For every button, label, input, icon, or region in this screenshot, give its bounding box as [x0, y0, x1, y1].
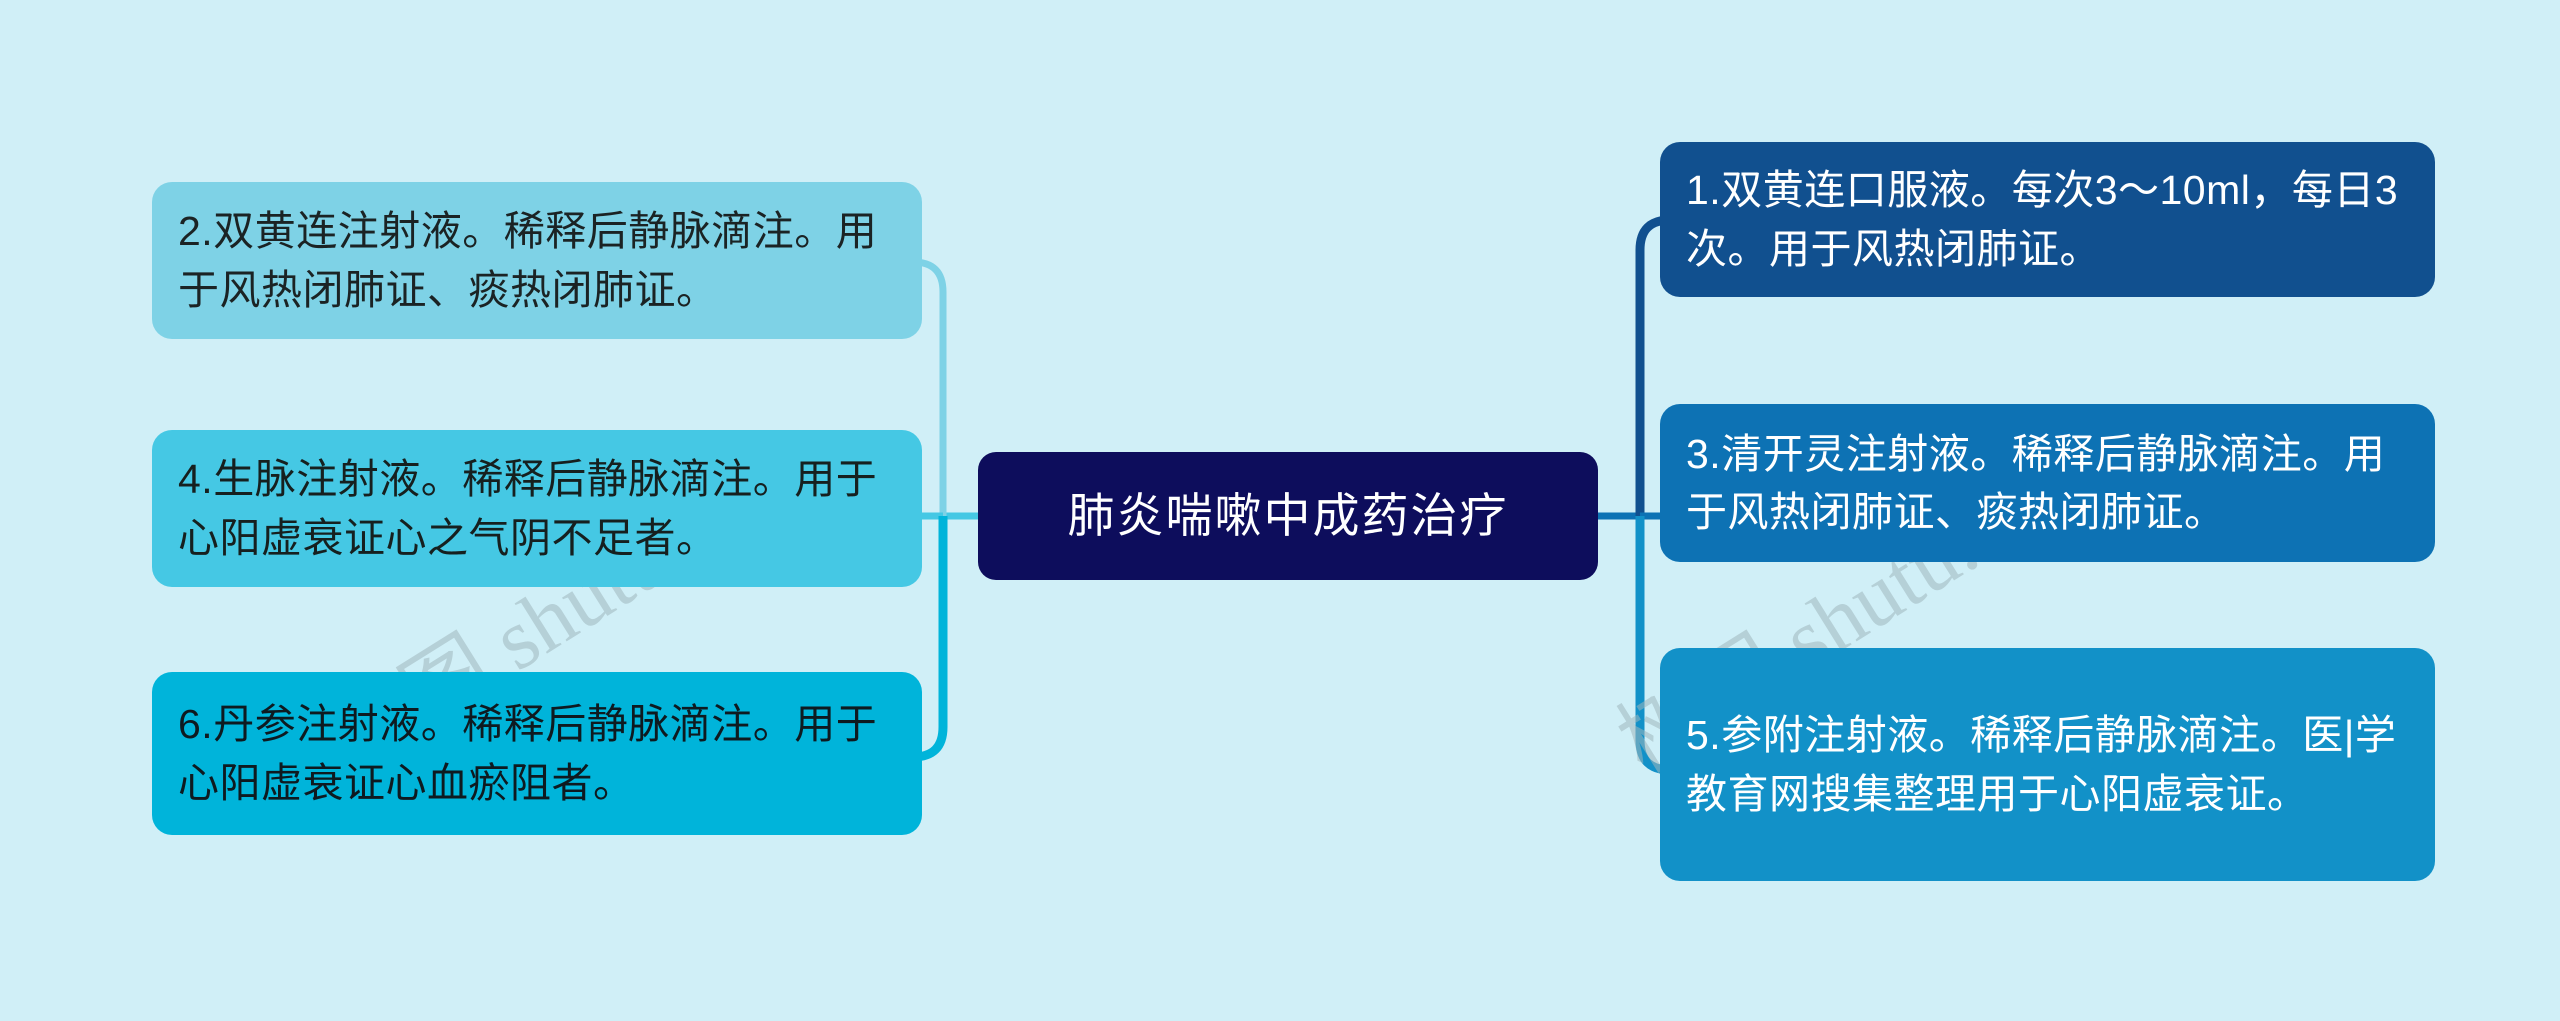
root-node[interactable]: 肺炎喘嗽中成药治疗 — [978, 452, 1598, 580]
branch-node-3-label: 3.清开灵注射液。稀释后静脉滴注。用于风热闭肺证、痰热闭肺证。 — [1686, 425, 2409, 541]
root-node-label: 肺炎喘嗽中成药治疗 — [1004, 483, 1572, 550]
branch-node-6[interactable]: 6.丹参注射液。稀释后静脉滴注。用于心阳虚衰证心血瘀阻者。 — [152, 672, 922, 835]
branch-node-4[interactable]: 4.生脉注射液。稀释后静脉滴注。用于心阳虚衰证心之气阴不足者。 — [152, 430, 922, 587]
branch-node-5[interactable]: 5.参附注射液。稀释后静脉滴注。医|学教育网搜集整理用于心阳虚衰证。 — [1660, 648, 2435, 881]
branch-node-2-label: 2.双黄连注射液。稀释后静脉滴注。用于风热闭肺证、痰热闭肺证。 — [178, 202, 896, 318]
mindmap-canvas: 树图 shutu.cn 树图 shutu.cn 肺炎喘嗽中成药治疗 2.双黄连注… — [0, 0, 2560, 1021]
branch-node-4-label: 4.生脉注射液。稀释后静脉滴注。用于心阳虚衰证心之气阴不足者。 — [178, 450, 896, 566]
branch-node-1[interactable]: 1.双黄连口服液。每次3～10ml，每日3次。用于风热闭肺证。 — [1660, 142, 2435, 297]
branch-node-1-label: 1.双黄连口服液。每次3～10ml，每日3次。用于风热闭肺证。 — [1686, 161, 2409, 277]
branch-node-5-label: 5.参附注射液。稀释后静脉滴注。医|学教育网搜集整理用于心阳虚衰证。 — [1686, 706, 2409, 822]
branch-node-3[interactable]: 3.清开灵注射液。稀释后静脉滴注。用于风热闭肺证、痰热闭肺证。 — [1660, 404, 2435, 562]
branch-node-6-label: 6.丹参注射液。稀释后静脉滴注。用于心阳虚衰证心血瘀阻者。 — [178, 695, 896, 811]
branch-node-2[interactable]: 2.双黄连注射液。稀释后静脉滴注。用于风热闭肺证、痰热闭肺证。 — [152, 182, 922, 339]
